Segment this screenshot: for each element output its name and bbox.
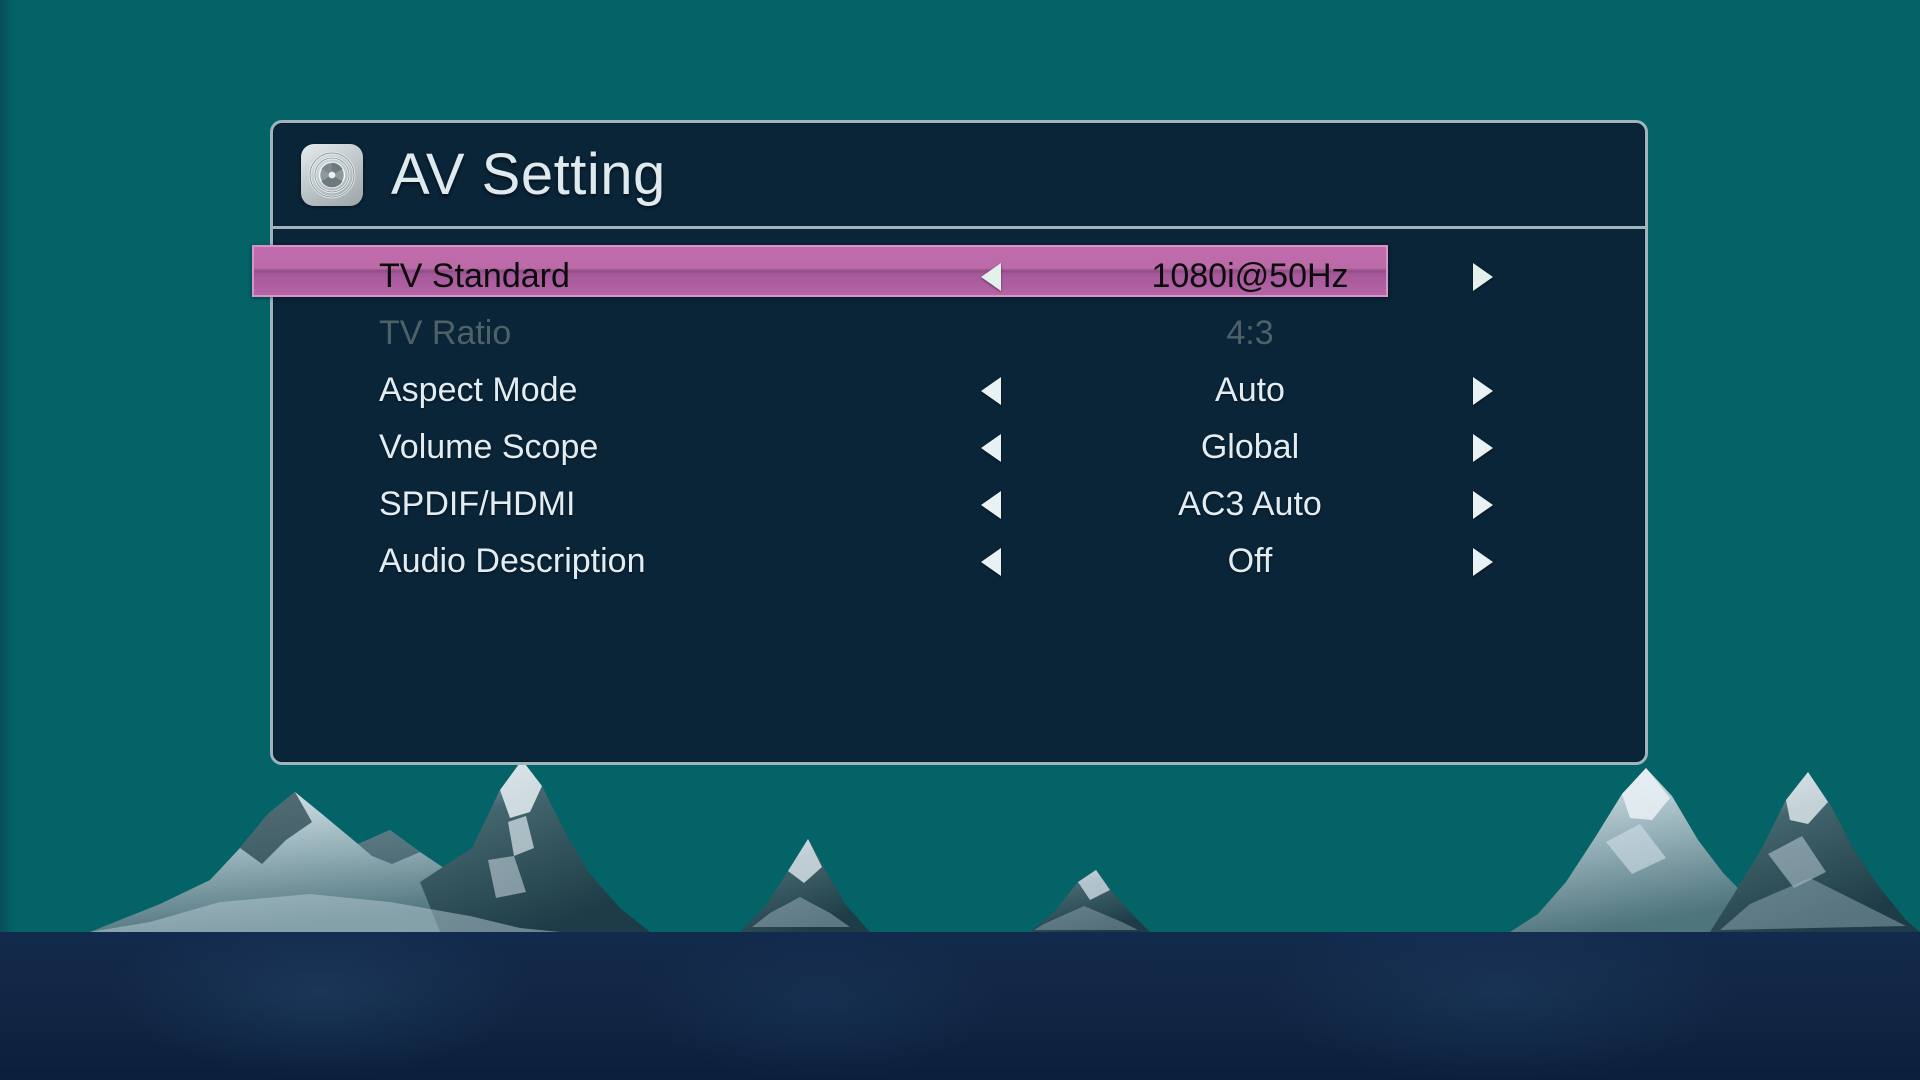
option-value: 1080i@50Hz [1085, 257, 1415, 296]
tv-screen: AV Setting TV Standard 1080i@50Hz TV Rat… [0, 0, 1920, 1080]
option-label: TV Standard [379, 257, 570, 296]
decrement-arrow-icon[interactable] [981, 377, 1001, 405]
page-title: AV Setting [391, 146, 666, 204]
decrement-arrow-icon[interactable] [981, 434, 1001, 462]
increment-arrow-icon[interactable] [1473, 434, 1493, 462]
option-label: Aspect Mode [379, 371, 577, 410]
option-row-tv-standard[interactable]: TV Standard 1080i@50Hz [273, 248, 1645, 305]
option-value: Auto [1085, 371, 1415, 410]
decrement-arrow-icon[interactable] [981, 491, 1001, 519]
option-row-spdif-hdmi[interactable]: SPDIF/HDMI AC3 Auto [273, 476, 1645, 533]
option-label: Volume Scope [379, 428, 598, 467]
option-row-aspect-mode[interactable]: Aspect Mode Auto [273, 362, 1645, 419]
decrement-arrow-icon[interactable] [981, 263, 1001, 291]
decrement-arrow-icon[interactable] [981, 548, 1001, 576]
increment-arrow-icon[interactable] [1473, 377, 1493, 405]
water-reflection [0, 932, 1920, 1080]
mountain-center-left [740, 827, 870, 932]
av-settings-gear-icon [301, 144, 363, 206]
increment-arrow-icon[interactable] [1473, 491, 1493, 519]
option-row-volume-scope[interactable]: Volume Scope Global [273, 419, 1645, 476]
option-list: TV Standard 1080i@50Hz TV Ratio 4:3 Aspe… [273, 229, 1645, 590]
increment-arrow-icon[interactable] [1473, 263, 1493, 291]
option-label: TV Ratio [379, 314, 511, 353]
wallpaper-landscape [0, 730, 1920, 1080]
increment-arrow-icon[interactable] [1473, 548, 1493, 576]
mountain-center-right [1030, 864, 1150, 932]
option-value: Global [1085, 428, 1415, 467]
option-label: SPDIF/HDMI [379, 485, 575, 524]
av-setting-dialog: AV Setting TV Standard 1080i@50Hz TV Rat… [270, 120, 1648, 765]
dialog-header: AV Setting [273, 123, 1645, 229]
mountain-right [1510, 754, 1920, 932]
mountain-left [90, 752, 650, 932]
option-row-audio-description[interactable]: Audio Description Off [273, 533, 1645, 590]
option-row-tv-ratio: TV Ratio 4:3 [273, 305, 1645, 362]
option-label: Audio Description [379, 542, 645, 581]
option-value: AC3 Auto [1085, 485, 1415, 524]
option-value: Off [1085, 542, 1415, 581]
option-value: 4:3 [1085, 314, 1415, 353]
